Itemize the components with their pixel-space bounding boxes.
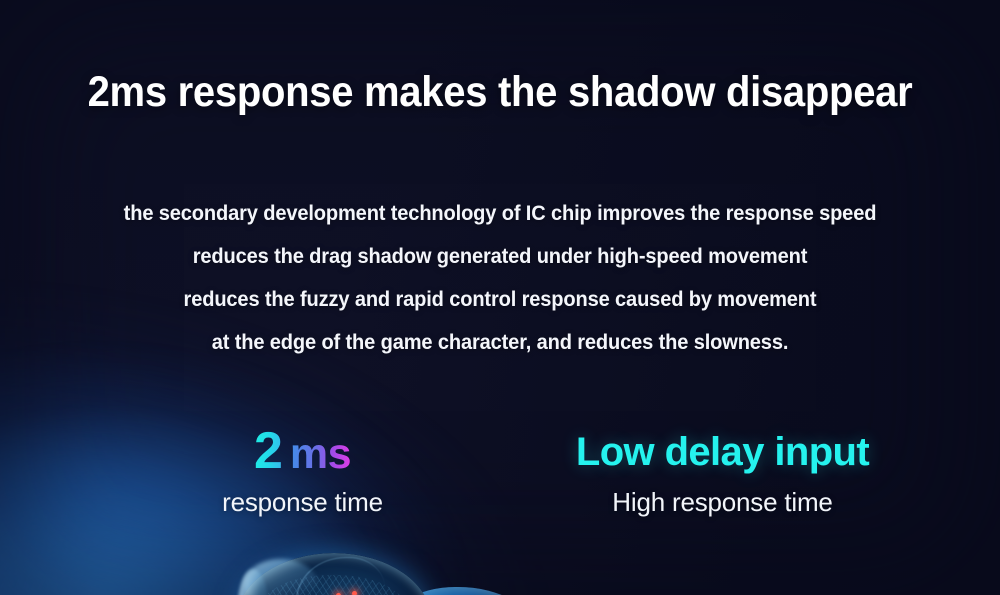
stat-row: 2 ms response time Low delay input High … xyxy=(0,425,1000,535)
stat-response-time: 2 ms response time xyxy=(120,425,485,518)
stat-caption-high-response-time: High response time xyxy=(520,487,925,518)
stat-metric-number: 2 xyxy=(254,425,282,477)
page-title: 2ms response makes the shadow disappear xyxy=(35,68,965,117)
description-block: the secondary development technology of … xyxy=(0,192,1000,364)
device-main-shell xyxy=(236,553,432,595)
stat-metric-unit: ms xyxy=(290,433,351,476)
stat-metric-value: 2 ms xyxy=(120,425,485,483)
gaming-mouse-image xyxy=(236,545,536,595)
promo-banner: 2ms response makes the shadow disappear … xyxy=(0,0,1000,595)
stat-heading-low-delay-input: Low delay input xyxy=(520,425,925,483)
description-line-1: the secondary development technology of … xyxy=(23,192,978,235)
device-led-indicator xyxy=(352,591,357,595)
description-line-2: reduces the drag shadow generated under … xyxy=(23,235,978,278)
description-line-3: reduces the fuzzy and rapid control resp… xyxy=(23,278,978,321)
description-line-4: at the edge of the game character, and r… xyxy=(23,321,978,364)
stat-low-delay-input: Low delay input High response time xyxy=(520,425,925,518)
stat-caption-response-time: response time xyxy=(120,487,485,518)
